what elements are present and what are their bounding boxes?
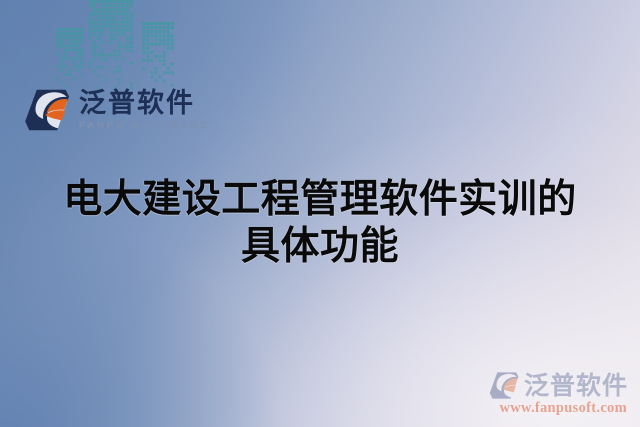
brand-text: 泛普软件 FANPU SOFTWARE	[79, 90, 210, 131]
page-title-line-1: 电大建设工程管理软件实训的	[0, 176, 640, 223]
watermark-name-cn: 泛普软件	[524, 373, 628, 398]
pixel-skyline-icon	[56, 0, 180, 92]
brand-name-cn: 泛普软件	[79, 90, 210, 117]
watermark-lockup: 泛普软件	[489, 371, 628, 400]
watermark: 泛普软件 www.fanpusoft.com	[489, 371, 628, 416]
brand-name-en: FANPU SOFTWARE	[79, 121, 210, 131]
promo-banner: 泛普软件 FANPU SOFTWARE 电大建设工程管理软件实训的 具体功能 泛…	[0, 0, 640, 427]
page-title-line-2: 具体功能	[0, 223, 640, 270]
watermark-url: www.fanpusoft.com	[499, 401, 627, 416]
page-title: 电大建设工程管理软件实训的 具体功能	[0, 176, 640, 270]
brand-lockup: 泛普软件 FANPU SOFTWARE	[24, 88, 210, 132]
fanpu-logo-mark-icon	[489, 371, 519, 400]
fanpu-logo-mark-icon	[24, 88, 70, 132]
